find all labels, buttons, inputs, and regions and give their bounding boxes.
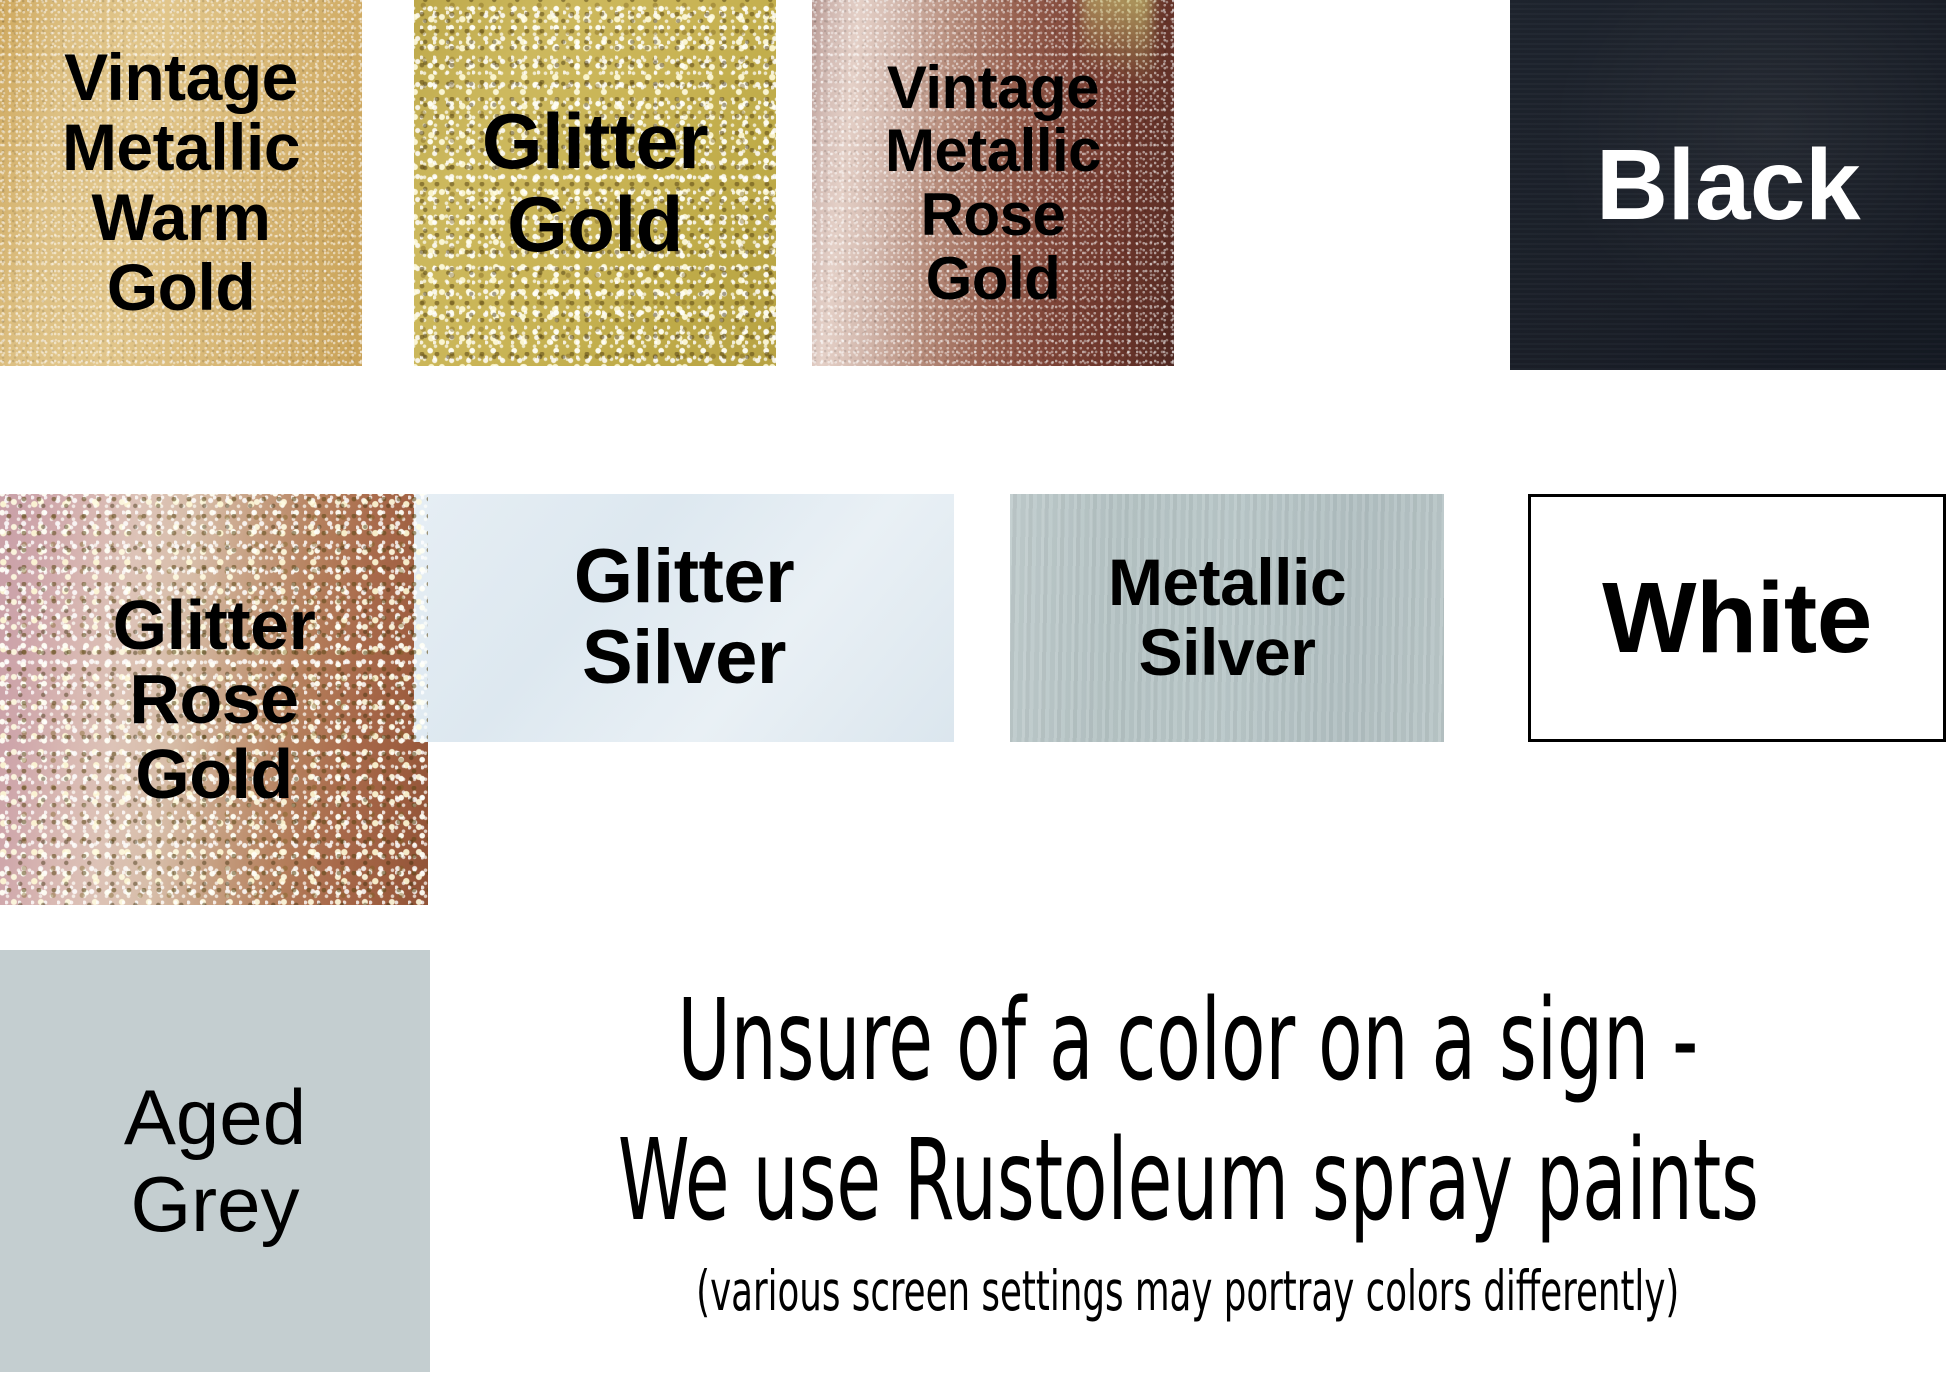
- swatch-glitter-rose-gold[interactable]: Glitter Rose Gold: [0, 494, 428, 905]
- footer-note: Unsure of a color on a sign - We use Rus…: [430, 960, 1946, 1380]
- footer-line-1: Unsure of a color on a sign -: [678, 970, 1699, 1113]
- swatch-vintage-metallic-rose-gold[interactable]: Vintage Metallic Rose Gold: [812, 0, 1174, 366]
- swatch-vintage-metallic-warm-gold[interactable]: Vintage Metallic Warm Gold: [0, 0, 362, 366]
- swatch-label-glitter-rose-gold: Glitter Rose Gold: [113, 588, 316, 811]
- swatch-label-aged-grey: Aged Grey: [124, 1074, 306, 1249]
- swatch-glitter-silver[interactable]: Glitter Silver: [414, 494, 954, 742]
- footer-line-2: We use Rustoleum spray paints: [617, 1113, 1758, 1250]
- swatch-label-black: Black: [1596, 132, 1860, 238]
- footer-line-3: (various screen settings may portray col…: [696, 1256, 1679, 1328]
- swatch-label-vintage-metallic-rose-gold: Vintage Metallic Rose Gold: [885, 56, 1101, 310]
- swatch-label-glitter-gold: Glitter Gold: [482, 100, 708, 265]
- swatch-label-vintage-metallic-warm-gold: Vintage Metallic Warm Gold: [62, 43, 300, 323]
- swatch-glitter-gold[interactable]: Glitter Gold: [414, 0, 776, 366]
- swatch-label-metallic-silver: Metallic Silver: [1108, 548, 1346, 688]
- swatch-metallic-silver[interactable]: Metallic Silver: [1010, 494, 1444, 742]
- swatch-label-white: White: [1602, 565, 1872, 671]
- swatch-aged-grey[interactable]: Aged Grey: [0, 950, 430, 1372]
- swatch-label-glitter-silver: Glitter Silver: [574, 537, 794, 698]
- swatch-white[interactable]: White: [1528, 494, 1946, 742]
- swatch-black[interactable]: Black: [1510, 0, 1946, 370]
